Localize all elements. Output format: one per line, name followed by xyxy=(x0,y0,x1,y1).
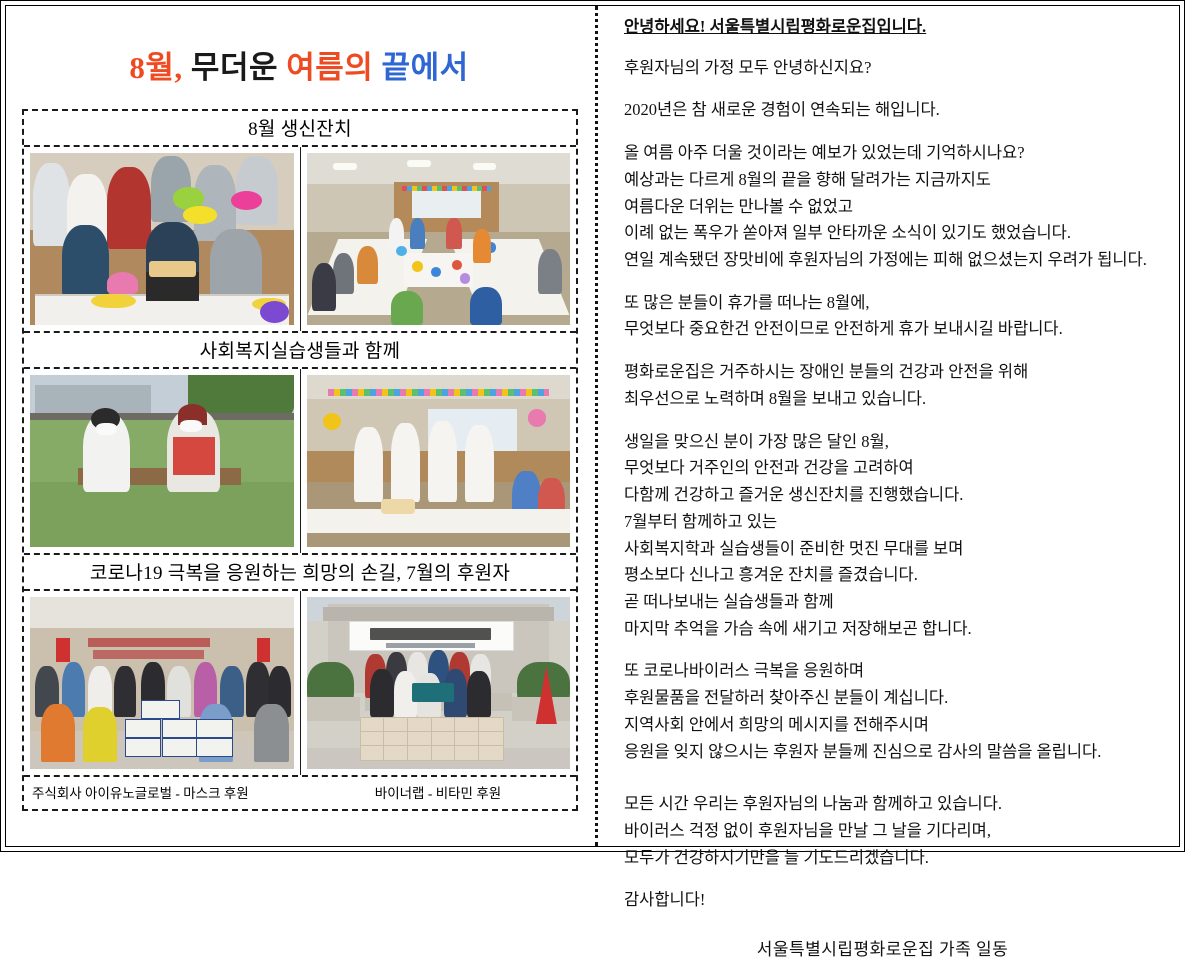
letter-line: 감사합니다! xyxy=(624,887,1171,914)
letter-line: 또 코로나바이러스 극복을 응원하며 xyxy=(624,658,1171,685)
letter-line: 모든 시간 우리는 후원자님의 나눔과 함께하고 있습니다. xyxy=(624,791,1171,818)
letter-line: 곧 떠나보내는 실습생들과 함께 xyxy=(624,589,1171,616)
photo-donor-mask xyxy=(24,591,300,775)
letter-line: 예상과는 다르게 8월의 끝을 향해 달려가는 지금까지도 xyxy=(624,167,1171,194)
section-heading-donors: 코로나19 극복을 응원하는 희망의 손길, 7월의 후원자 xyxy=(24,555,576,591)
letter-block: 평화로운집은 거주하시는 장애인 분들의 건강과 안전을 위해 최우선으로 노력… xyxy=(624,359,1171,412)
letter-line: 생일을 맞으신 분이 가장 많은 달인 8월, xyxy=(624,429,1171,456)
title-part-3: 여름의 xyxy=(286,50,373,85)
letter-line: 또 많은 분들이 휴가를 떠나는 8월에, xyxy=(624,290,1171,317)
letter-line: 다함께 건강하고 즐거운 생신잔치를 진행했습니다. xyxy=(624,482,1171,509)
photo-interns-outdoor xyxy=(24,369,300,553)
photo-birthday-hall xyxy=(300,147,576,331)
letter-block: 2020년은 참 새로운 경험이 연속되는 해입니다. xyxy=(624,97,1171,124)
photo-birthday-cake xyxy=(24,147,300,331)
section-heading-birthday: 8월 생신잔치 xyxy=(24,111,576,147)
title-part-4: 끝에서 xyxy=(382,50,469,85)
title-part-1: 8월, xyxy=(129,50,182,85)
letter-block: 올 여름 아주 더울 것이라는 예보가 있었는데 기억하시나요? 예상과는 다르… xyxy=(624,140,1171,274)
letter-line: 2020년은 참 새로운 경험이 연속되는 해입니다. xyxy=(624,97,1171,124)
page-title: 8월, 무더운 여름의 끝에서 xyxy=(6,42,592,87)
photo-row-donors xyxy=(24,591,576,777)
letter-block: 또 많은 분들이 휴가를 떠나는 8월에, 무엇보다 중요한건 안전이므로 안전… xyxy=(624,290,1171,343)
letter-greeting: 안녕하세요! 서울특별시립평화로운집입니다. xyxy=(624,14,926,41)
letter-column: 안녕하세요! 서울특별시립평화로운집입니다. 후원자님의 가정 모두 안녕하신지… xyxy=(602,6,1179,846)
letter-line: 여름다운 더위는 만나볼 수 없었고 xyxy=(624,194,1171,221)
letter-line: 평화로운집은 거주하시는 장애인 분들의 건강과 안전을 위해 xyxy=(624,359,1171,386)
photo-interns-stage xyxy=(300,369,576,553)
letter-line: 후원물품을 전달하러 찾아주신 분들이 계십니다. xyxy=(624,685,1171,712)
letter-line: 마지막 추억을 가슴 속에 새기고 저장해보곤 합니다. xyxy=(624,616,1171,643)
photo-caption-row: 주식회사 아이유노글로벌 - 마스크 후원 바이너랩 - 비타민 후원 xyxy=(24,777,576,809)
photo-row-birthday xyxy=(24,147,576,333)
letter-line: 7월부터 함께하고 있는 xyxy=(624,509,1171,536)
caption-donor-vitamin: 바이너랩 - 비타민 후원 xyxy=(300,777,576,809)
letter-line: 최우선으로 노력하며 8월을 보내고 있습니다. xyxy=(624,386,1171,413)
newsletter-page: 8월, 무더운 여름의 끝에서 8월 생신잔치 xyxy=(0,0,1185,852)
letter-signature: 서울특별시립평화로운집 가족 일동 xyxy=(624,936,1171,964)
letter-block: 생일을 맞으신 분이 가장 많은 달인 8월, 무엇보다 거주인의 안전과 건강… xyxy=(624,429,1171,643)
letter-line: 모두가 건강하시기만을 늘 기도드리겠습니다. xyxy=(624,845,1171,872)
title-part-2: 무더운 xyxy=(191,50,278,85)
letter-line: 연일 계속됐던 장맛비에 후원자님의 가정에는 피해 없으셨는지 우려가 됩니다… xyxy=(624,247,1171,274)
section-heading-interns: 사회복지실습생들과 함께 xyxy=(24,333,576,369)
column-divider xyxy=(592,6,602,846)
letter-line: 이례 없는 폭우가 쏟아져 일부 안타까운 소식이 있기도 했었습니다. xyxy=(624,220,1171,247)
letter-line: 지역사회 안에서 희망의 메시지를 전해주시며 xyxy=(624,712,1171,739)
caption-donor-mask: 주식회사 아이유노글로벌 - 마스크 후원 xyxy=(24,777,300,809)
letter-body: 안녕하세요! 서울특별시립평화로운집입니다. 후원자님의 가정 모두 안녕하신지… xyxy=(624,14,1171,964)
photo-table: 8월 생신잔치 xyxy=(22,109,578,811)
photo-row-interns xyxy=(24,369,576,555)
letter-line: 무엇보다 거주인의 안전과 건강을 고려하여 xyxy=(624,455,1171,482)
letter-line: 후원자님의 가정 모두 안녕하신지요? xyxy=(624,55,1171,82)
letter-block: 후원자님의 가정 모두 안녕하신지요? xyxy=(624,55,1171,82)
letter-line: 사회복지학과 실습생들이 준비한 멋진 무대를 보며 xyxy=(624,536,1171,563)
photo-column: 8월, 무더운 여름의 끝에서 8월 생신잔치 xyxy=(6,6,592,846)
letter-block: 또 코로나바이러스 극복을 응원하며 후원물품을 전달하러 찾아주신 분들이 계… xyxy=(624,658,1171,765)
letter-line: 응원을 잊지 않으시는 후원자 분들께 진심으로 감사의 말씀을 올립니다. xyxy=(624,739,1171,766)
letter-line: 올 여름 아주 더울 것이라는 예보가 있었는데 기억하시나요? xyxy=(624,140,1171,167)
letter-line: 무엇보다 중요한건 안전이므로 안전하게 휴가 보내시길 바랍니다. xyxy=(624,316,1171,343)
letter-line: 평소보다 신나고 흥겨운 잔치를 즐겼습니다. xyxy=(624,562,1171,589)
photo-donor-vitamin xyxy=(300,591,576,775)
letter-block: 모든 시간 우리는 후원자님의 나눔과 함께하고 있습니다. 바이러스 걱정 없… xyxy=(624,791,1171,871)
letter-block: 감사합니다! xyxy=(624,887,1171,914)
letter-line: 바이러스 걱정 없이 후원자님을 만날 그 날을 기다리며, xyxy=(624,818,1171,845)
page-inner-border: 8월, 무더운 여름의 끝에서 8월 생신잔치 xyxy=(5,5,1180,847)
